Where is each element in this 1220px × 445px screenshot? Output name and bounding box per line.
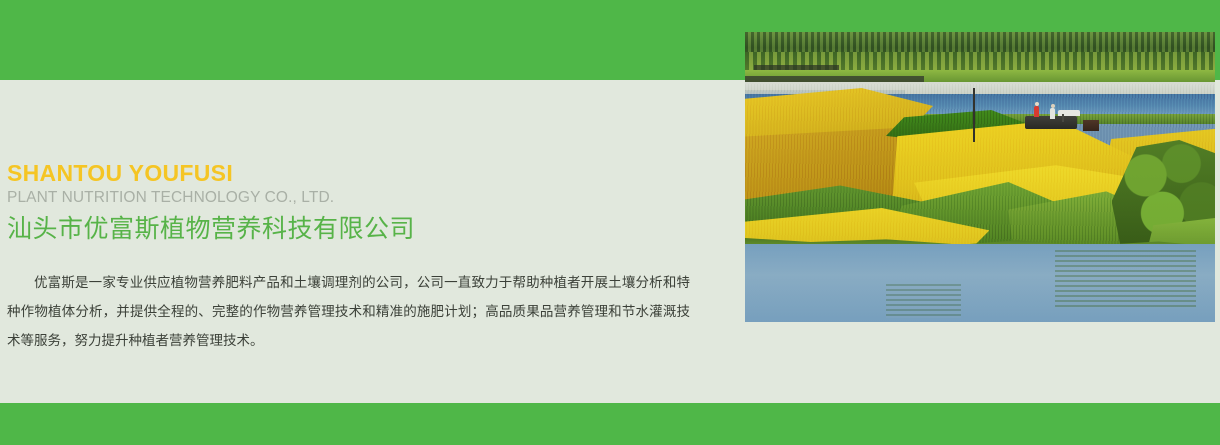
company-name-chinese: 汕头市优富斯植物营养科技有限公司: [0, 213, 730, 247]
company-intro-column: SHANTOU YOUFUSI PLANT NUTRITION TECHNOLO…: [0, 160, 730, 355]
farmland-photo-scene: [745, 32, 1215, 322]
bottom-green-band: [0, 403, 1220, 445]
company-name-english: SHANTOU YOUFUSI: [0, 160, 730, 186]
farmland-photo: [745, 32, 1215, 322]
company-about-paragraph: 优富斯是一家专业供应植物营养肥料产品和土壤调理剂的公司，公司一直致力于帮助种植者…: [0, 268, 710, 355]
company-tagline-english: PLANT NUTRITION TECHNOLOGY CO., LTD.: [0, 188, 730, 208]
photo-tone-overlay: [745, 32, 1215, 322]
page-root: SHANTOU YOUFUSI PLANT NUTRITION TECHNOLO…: [0, 0, 1220, 445]
